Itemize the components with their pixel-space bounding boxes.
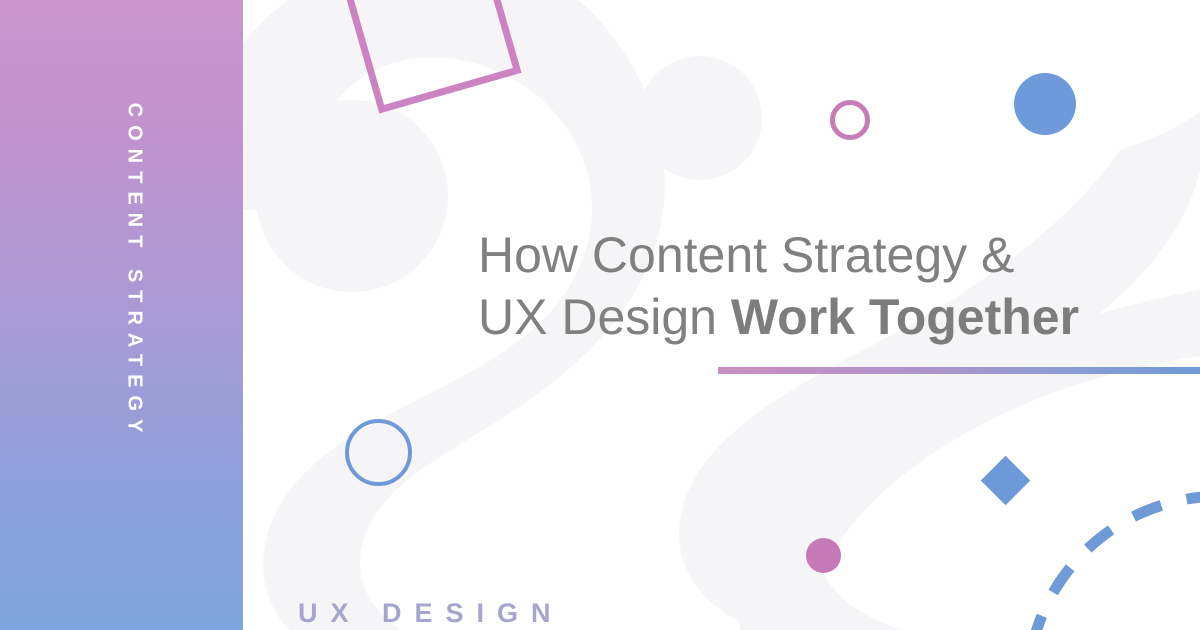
page-title-line-1: How Content Strategy &: [478, 224, 1178, 286]
filled-dot-pink-icon: [806, 538, 841, 573]
page-title-line-2-regular: UX Design: [478, 289, 731, 345]
page-title-line-2: UX Design Work Together: [478, 286, 1178, 348]
social-share-banner: CONTENT STRATEGY How Content Strategy & …: [0, 0, 1200, 630]
title-underline-bar: [718, 367, 1200, 374]
dashed-arc-blue-icon: [1020, 470, 1200, 630]
rotated-square-outline-icon: [338, 0, 521, 114]
filled-circle-blue-icon: [1014, 73, 1076, 135]
vertical-category-label: CONTENT STRATEGY: [243, 0, 287, 630]
page-title: How Content Strategy & UX Design Work To…: [478, 224, 1178, 348]
ring-blue-icon: [345, 419, 412, 486]
ring-small-pink-icon: [830, 100, 870, 140]
page-title-line-2-bold: Work Together: [731, 289, 1079, 345]
diamond-blue-icon: [981, 456, 1030, 505]
vertical-category-label-text: CONTENT STRATEGY: [123, 103, 146, 441]
footer-category-label: UX DESIGN: [298, 598, 564, 629]
